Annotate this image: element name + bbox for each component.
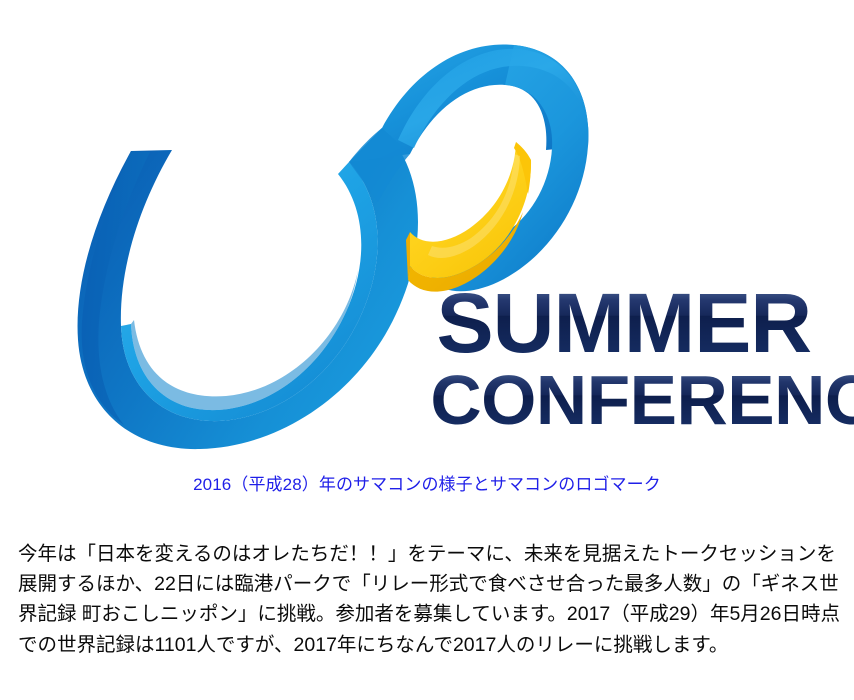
summer-conference-logo: SUMMER CONFERENCE	[0, 0, 854, 460]
logo-wordmark-summer: SUMMER	[437, 276, 812, 370]
yellow-arc-left-gloss	[158, 128, 323, 248]
wordmark-summer-text: SUMMER	[437, 276, 812, 370]
figure-caption: 2016（平成28）年のサマコンの様子とサマコンのロゴマーク	[0, 472, 854, 498]
article-container: SUMMER CONFERENCE 2016（平成28）年のサマコンの様子とサマ…	[0, 0, 854, 700]
yellow-arc-left-face	[121, 113, 356, 292]
body-text: 今年は「日本を変えるのはオレたちだ！！」をテーマに、未来を見据えたトークセッショ…	[18, 539, 840, 660]
yellow-arc-left-edge	[168, 184, 336, 320]
body-paragraph: 今年は「日本を変えるのはオレたちだ！！」をテーマに、未来を見据えたトークセッショ…	[18, 539, 840, 660]
logo-graphic: SUMMER CONFERENCE	[0, 0, 854, 460]
logo-yellow-arc-left	[121, 113, 356, 320]
logo-wordmark-conference: CONFERENCE	[430, 360, 854, 438]
wordmark-conference-text: CONFERENCE	[430, 360, 854, 438]
